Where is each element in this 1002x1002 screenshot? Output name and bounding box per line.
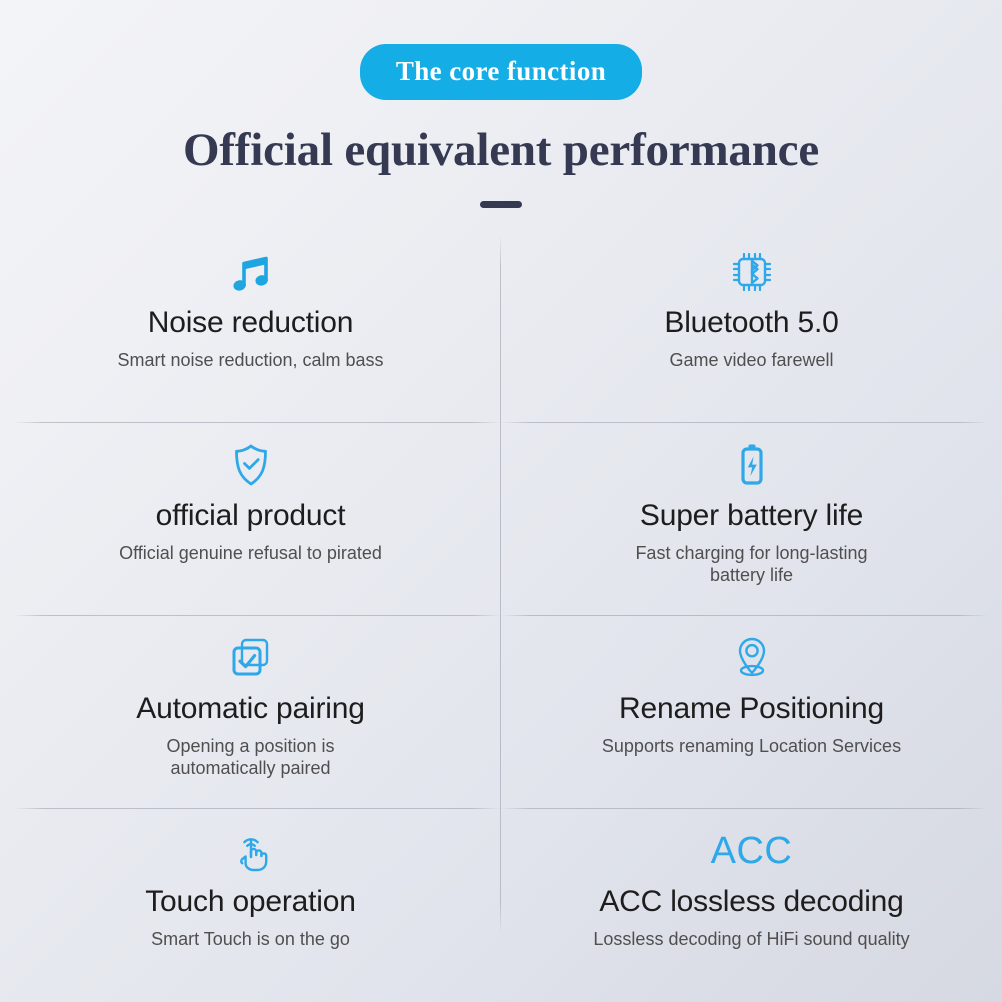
feature-cell-bluetooth: Bluetooth 5.0 Game video farewell — [501, 230, 1002, 423]
feature-grid: Noise reduction Smart noise reduction, c… — [0, 230, 1002, 1002]
feature-title: Automatic pairing — [136, 692, 364, 727]
feature-title: ACC lossless decoding — [599, 885, 903, 920]
badge-container: The core function — [0, 44, 1002, 100]
bluetooth-chip-icon — [726, 244, 778, 300]
feature-subtitle: Game video farewell — [669, 349, 833, 372]
feature-title: Rename Positioning — [619, 692, 884, 727]
location-pin-icon — [726, 630, 778, 686]
feature-cell-official-product: official product Official genuine refusa… — [0, 423, 501, 616]
feature-subtitle: Supports renaming Location Services — [602, 735, 901, 758]
acc-text-icon: ACC — [711, 823, 793, 879]
feature-title: official product — [156, 499, 346, 534]
feature-title: Super battery life — [640, 499, 863, 534]
feature-subtitle: Opening a position is automatically pair… — [126, 735, 376, 780]
feature-subtitle: Smart noise reduction, calm bass — [117, 349, 383, 372]
battery-charging-icon — [726, 437, 778, 493]
feature-title: Noise reduction — [148, 306, 353, 341]
feature-cell-automatic-pairing: Automatic pairing Opening a position is … — [0, 616, 501, 809]
touch-hand-icon — [225, 823, 277, 879]
feature-cell-rename-positioning: Rename Positioning Supports renaming Loc… — [501, 616, 1002, 809]
feature-title: Touch operation — [145, 885, 356, 920]
feature-cell-noise-reduction: Noise reduction Smart noise reduction, c… — [0, 230, 501, 423]
section-badge: The core function — [360, 44, 642, 100]
feature-cell-battery: Super battery life Fast charging for lon… — [501, 423, 1002, 616]
feature-cell-acc-decoding: ACC ACC lossless decoding Lossless decod… — [501, 809, 1002, 1002]
feature-page: The core function Official equivalent pe… — [0, 0, 1002, 1002]
feature-title: Bluetooth 5.0 — [664, 306, 838, 341]
title-underline-bar — [480, 201, 522, 208]
feature-subtitle: Fast charging for long-lasting battery l… — [627, 542, 877, 587]
feature-subtitle: Official genuine refusal to pirated — [119, 542, 382, 565]
stacked-squares-check-icon — [225, 630, 277, 686]
feature-cell-touch-operation: Touch operation Smart Touch is on the go — [0, 809, 501, 1002]
acc-icon-label: ACC — [711, 832, 793, 870]
feature-subtitle: Smart Touch is on the go — [151, 928, 350, 951]
feature-subtitle: Lossless decoding of HiFi sound quality — [593, 928, 909, 951]
music-note-icon — [225, 244, 277, 300]
page-title: Official equivalent performance — [0, 126, 1002, 175]
shield-check-icon — [225, 437, 277, 493]
